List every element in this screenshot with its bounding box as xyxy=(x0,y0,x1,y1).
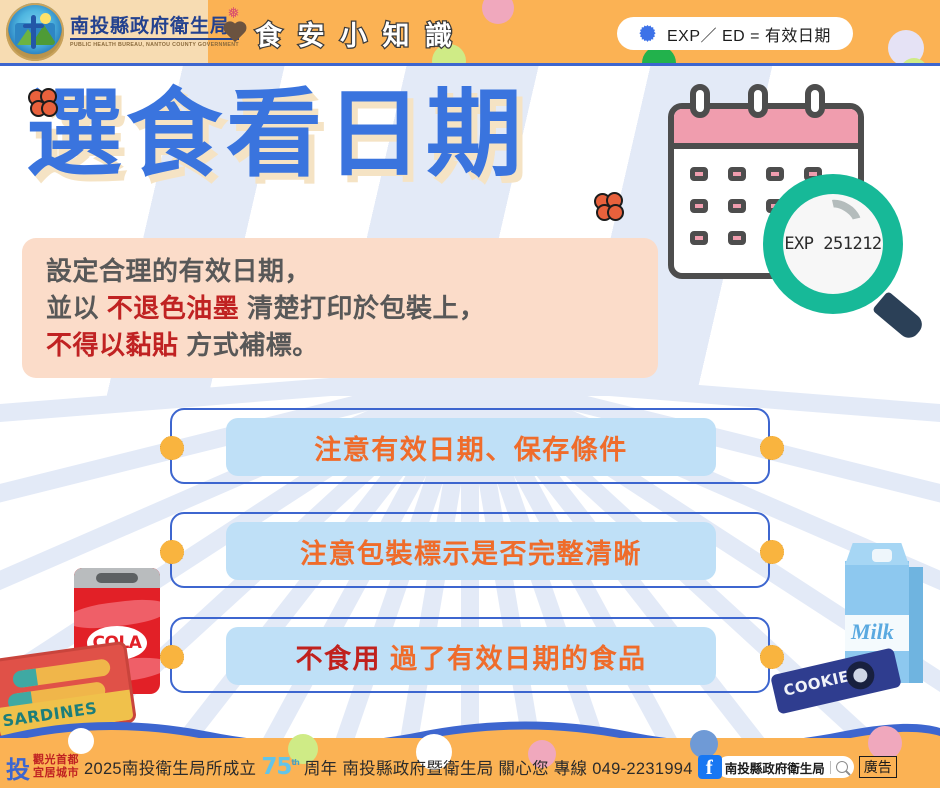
calendar-ring xyxy=(690,84,710,118)
sun-burst-icon xyxy=(755,640,789,674)
calendar-date-cell xyxy=(728,231,746,245)
anniversary-badge: 75 xyxy=(261,754,299,780)
series-badge: 食 安 小 知 識 xyxy=(222,14,456,53)
series-badge-label: 食 安 小 知 識 xyxy=(255,14,456,53)
tip-segment: 不食用 xyxy=(295,644,381,674)
notice-text: 方式補標。 xyxy=(179,330,319,360)
footer-text-after: 周年 南投縣政府暨衛生局 關心您 專線 049-2231994 xyxy=(304,755,693,779)
tip-pill: 不食用 過了有效日期的食品 xyxy=(226,627,716,685)
tip-segment: 注意有效日期、保存條件 xyxy=(314,435,628,465)
nantou-city-logo: 投 xyxy=(6,750,28,785)
bureau-logo: 南投縣政府衛生局 ❅ PUBLIC HEALTH BUREAU, NANTOU … xyxy=(6,3,239,61)
cookie-label: COOKIE xyxy=(782,667,851,700)
tip-row: 注意有效日期、保存條件 xyxy=(170,408,770,484)
calendar-date-cell xyxy=(728,167,746,181)
facebook-icon[interactable] xyxy=(698,755,722,779)
bureau-name-cn: 南投縣政府衛生局 ❅ xyxy=(70,16,239,41)
clover-icon xyxy=(594,192,624,222)
calendar-date-cell xyxy=(690,167,708,181)
footer-text-before: 2025南投衛生局所成立 xyxy=(84,755,256,779)
tip-segment: 注意包裝標示是否完整清晰 xyxy=(300,539,642,569)
header-divider xyxy=(0,63,940,66)
notice-highlight: 不退色油墨 xyxy=(107,293,240,323)
facebook-search-box[interactable]: 南投縣政府衛生局 xyxy=(717,756,854,778)
bureau-name-en: PUBLIC HEALTH BUREAU, NANTOU COUNTY GOVE… xyxy=(70,42,239,48)
anniversary-number: 75 xyxy=(261,754,299,780)
carton-cap xyxy=(872,549,892,562)
sun-burst-icon xyxy=(155,640,189,674)
facebook-search-text: 南投縣政府衛生局 xyxy=(725,758,825,777)
city-slogan-line2: 宜居城市 xyxy=(33,767,79,780)
notice-text: 並以 xyxy=(46,293,107,323)
page-title: 選食看日期 xyxy=(26,86,526,182)
city-slogan: 觀光首都 宜居城市 xyxy=(33,754,79,779)
notice-text: 清楚打印於包裝上， xyxy=(239,293,485,323)
calendar-date-cell xyxy=(690,231,708,245)
calendar-ring xyxy=(805,84,825,118)
notice-box: 設定合理的有效日期，並以 不退色油墨 清楚打印於包裝上，不得以黏貼 方式補標。 xyxy=(22,238,658,378)
exp-definition-label: EXP／ ED = 有效日期 xyxy=(667,22,831,46)
blue-burst-icon xyxy=(639,25,656,42)
sun-burst-icon xyxy=(755,535,789,569)
footer-content: 投 觀光首都 宜居城市 2025南投衛生局所成立 75 周年 南投縣政府暨衛生局… xyxy=(0,752,940,782)
calendar-ring xyxy=(748,84,768,118)
decorative-dot xyxy=(482,0,514,24)
poster-root: 南投縣政府衛生局 ❅ PUBLIC HEALTH BUREAU, NANTOU … xyxy=(0,0,940,788)
notice-line: 設定合理的有效日期， xyxy=(46,253,636,290)
tip-row: 注意包裝標示是否完整清晰 xyxy=(170,512,770,588)
sun-burst-icon xyxy=(155,431,189,465)
cookie-disc xyxy=(844,659,878,693)
calendar-date-cell xyxy=(728,199,746,213)
sun-burst-icon xyxy=(755,431,789,465)
city-slogan-line1: 觀光首都 xyxy=(33,754,79,767)
can-lid xyxy=(74,568,160,588)
sun-burst-icon xyxy=(155,535,189,569)
decorative-dot xyxy=(68,728,94,754)
tip-segment: 過了有效日期的食品 xyxy=(381,644,647,674)
magnifier-icon: EXP 251212 xyxy=(763,174,903,314)
tip-pill: 注意包裝標示是否完整清晰 xyxy=(226,522,716,580)
tip-row: 不食用 過了有效日期的食品 xyxy=(170,617,770,693)
notice-highlight: 不得以黏貼 xyxy=(46,330,179,360)
expiry-date-text: EXP 251212 xyxy=(763,234,903,254)
notice-text: 設定合理的有效日期， xyxy=(46,256,311,286)
clover-icon xyxy=(28,88,58,118)
search-separator xyxy=(830,761,831,774)
exp-definition-badge: EXP／ ED = 有效日期 xyxy=(617,17,853,50)
header-bar: 南投縣政府衛生局 ❅ PUBLIC HEALTH BUREAU, NANTOU … xyxy=(0,0,940,66)
tip-label: 注意包裝標示是否完整清晰 xyxy=(300,532,642,571)
ad-badge: 廣告 xyxy=(859,756,897,778)
tip-label: 不食用 過了有效日期的食品 xyxy=(295,637,646,676)
tip-pill: 注意有效日期、保存條件 xyxy=(226,418,716,476)
health-bureau-emblem-icon xyxy=(6,3,64,61)
tip-label: 注意有效日期、保存條件 xyxy=(314,428,628,467)
search-icon[interactable] xyxy=(836,761,848,773)
calendar-date-cell xyxy=(690,199,708,213)
heart-icon xyxy=(222,22,248,46)
notice-line: 並以 不退色油墨 清楚打印於包裝上， xyxy=(46,290,636,327)
milk-label: Milk xyxy=(851,619,894,645)
notice-line: 不得以黏貼 方式補標。 xyxy=(46,327,636,364)
